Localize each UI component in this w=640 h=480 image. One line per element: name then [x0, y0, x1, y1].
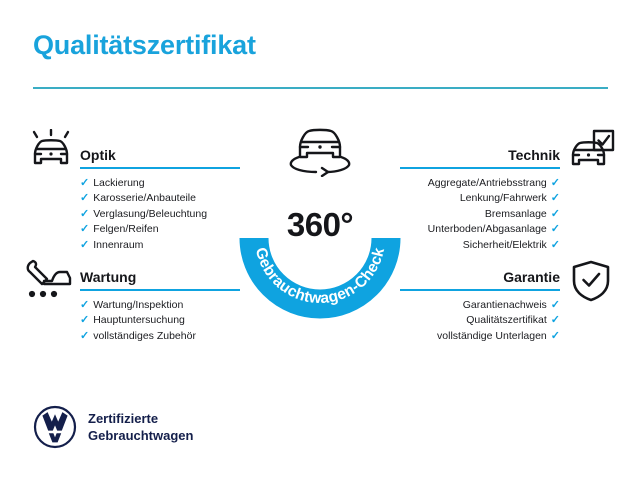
car-shine-icon	[27, 129, 75, 178]
section-heading-garantie: Garantie	[400, 268, 560, 286]
list-item: Bremsanlage✓	[400, 207, 560, 222]
list-item-label: Aggregate/Antriebsstrang	[428, 177, 547, 189]
list-item-label: Qualitätszertifikat	[466, 314, 547, 326]
section-heading-optik: Optik	[80, 146, 240, 164]
list-item: Sicherheit/Elektrik✓	[400, 238, 560, 253]
list-item-label: Felgen/Reifen	[93, 223, 158, 235]
list-item-label: vollständiges Zubehör	[93, 330, 196, 342]
check-icon: ✓	[551, 223, 560, 235]
wrench-car-icon	[24, 259, 74, 308]
check-icon: ✓	[551, 330, 560, 342]
list-item: Garantienachweis✓	[400, 298, 560, 313]
list-item-label: Lenkung/Fahrwerk	[460, 192, 547, 204]
check-icon: ✓	[80, 223, 89, 235]
section-heading-wartung: Wartung	[80, 268, 240, 286]
section-list-optik: ✓Lackierung ✓Karosserie/Anbauteile ✓Verg…	[80, 176, 240, 253]
list-item: ✓vollständiges Zubehör	[80, 329, 240, 344]
section-technik: Technik Aggregate/Antriebsstrang✓ Lenkun…	[400, 146, 560, 253]
check-icon: ✓	[551, 177, 560, 189]
section-wartung: Wartung ✓Wartung/Inspektion ✓Hauptunters…	[80, 268, 240, 344]
list-item: Qualitätszertifikat✓	[400, 313, 560, 328]
list-item: ✓Innenraum	[80, 238, 240, 253]
section-garantie: Garantie Garantienachweis✓ Qualitätszert…	[400, 268, 560, 344]
list-item-label: Hauptuntersuchung	[93, 314, 185, 326]
car-rotate-360-icon	[283, 121, 357, 177]
footer-line-1: Zertifizierte	[88, 411, 158, 426]
check-icon: ✓	[80, 177, 89, 189]
badge-degrees-label: 360°	[234, 206, 406, 244]
section-list-wartung: ✓Wartung/Inspektion ✓Hauptuntersuchung ✓…	[80, 298, 240, 344]
check-icon: ✓	[80, 208, 89, 220]
list-item: ✓Lackierung	[80, 176, 240, 191]
list-item: Aggregate/Antriebsstrang✓	[400, 176, 560, 191]
page-title: Qualitätszertifikat	[33, 30, 256, 61]
section-heading-technik: Technik	[400, 146, 560, 164]
list-item-label: Lackierung	[93, 177, 144, 189]
car-checkbox-icon	[567, 129, 615, 178]
list-item-label: Verglasung/Beleuchtung	[93, 208, 207, 220]
list-item: ✓Felgen/Reifen	[80, 222, 240, 237]
list-item-label: Unterboden/Abgasanlage	[428, 223, 547, 235]
vw-logo-icon	[33, 405, 77, 449]
shield-check-icon	[570, 259, 612, 308]
list-item: ✓Verglasung/Beleuchtung	[80, 207, 240, 222]
header-divider	[33, 87, 608, 89]
check-icon: ✓	[551, 192, 560, 204]
footer-brand: Zertifizierte Gebrauchtwagen	[33, 405, 193, 449]
list-item: ✓Karosserie/Anbauteile	[80, 191, 240, 206]
list-item: Unterboden/Abgasanlage✓	[400, 222, 560, 237]
check-icon: ✓	[80, 192, 89, 204]
section-divider-garantie	[400, 289, 560, 291]
check-icon: ✓	[80, 330, 89, 342]
list-item: ✓Wartung/Inspektion	[80, 298, 240, 313]
list-item-label: Innenraum	[93, 239, 143, 251]
footer-brand-text: Zertifizierte Gebrauchtwagen	[88, 410, 193, 444]
section-optik: Optik ✓Lackierung ✓Karosserie/Anbauteile…	[80, 146, 240, 253]
check-icon: ✓	[80, 314, 89, 326]
section-divider-optik	[80, 167, 240, 169]
list-item: ✓Hauptuntersuchung	[80, 313, 240, 328]
check-icon: ✓	[551, 299, 560, 311]
section-divider-technik	[400, 167, 560, 169]
footer-line-2: Gebrauchtwagen	[88, 428, 193, 443]
list-item-label: Karosserie/Anbauteile	[93, 192, 196, 204]
check-icon: ✓	[80, 299, 89, 311]
list-item: Lenkung/Fahrwerk✓	[400, 191, 560, 206]
list-item: vollständige Unterlagen✓	[400, 329, 560, 344]
section-divider-wartung	[80, 289, 240, 291]
certificate-page: Qualitätszertifikat	[0, 0, 640, 480]
check-icon: ✓	[551, 239, 560, 251]
list-item-label: Sicherheit/Elektrik	[463, 239, 547, 251]
check-icon: ✓	[551, 208, 560, 220]
check-icon: ✓	[80, 239, 89, 251]
list-item-label: Bremsanlage	[485, 208, 547, 220]
section-list-technik: Aggregate/Antriebsstrang✓ Lenkung/Fahrwe…	[400, 176, 560, 253]
list-item-label: Garantienachweis	[463, 299, 547, 311]
check-icon: ✓	[551, 314, 560, 326]
list-item-label: Wartung/Inspektion	[93, 299, 183, 311]
list-item-label: vollständige Unterlagen	[437, 330, 547, 342]
section-list-garantie: Garantienachweis✓ Qualitätszertifikat✓ v…	[400, 298, 560, 344]
